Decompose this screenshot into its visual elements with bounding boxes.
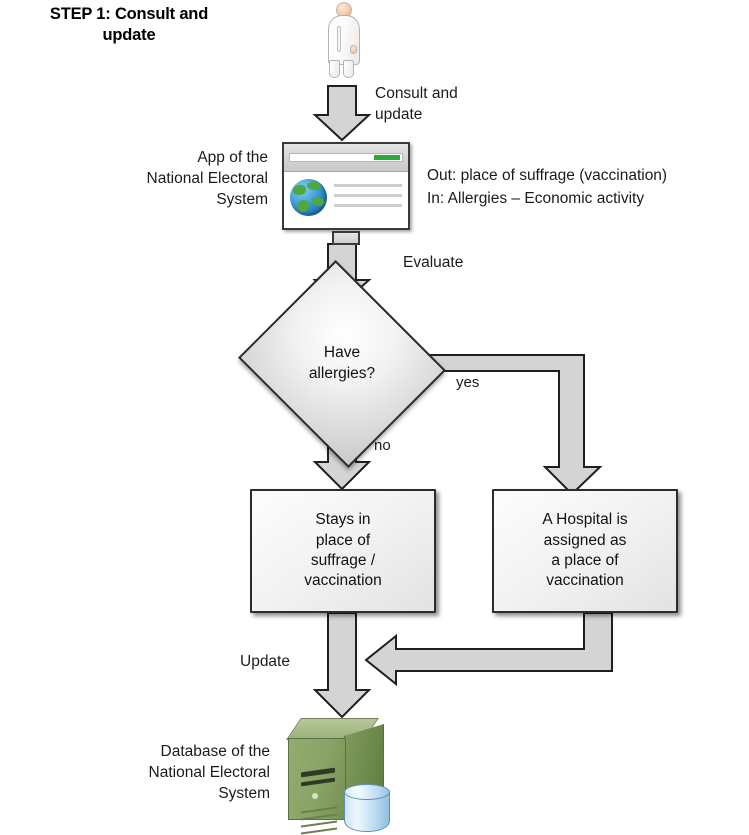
person-icon bbox=[322, 2, 366, 78]
decision-label: Have allergies? bbox=[264, 295, 420, 433]
edge-label-update: Update bbox=[240, 652, 290, 673]
process-box-hospital-assigned: A Hospital is assigned as a place of vac… bbox=[492, 489, 678, 613]
decision-node-have-allergies: Have allergies? bbox=[264, 295, 420, 433]
person-hand bbox=[350, 45, 357, 54]
app-window-base bbox=[332, 231, 360, 245]
person-leg-left bbox=[329, 60, 340, 78]
app-progress-indicator bbox=[374, 155, 400, 160]
server-vent bbox=[301, 827, 337, 834]
annotation-input-output: Out: place of suffrage (vaccination) In:… bbox=[427, 164, 747, 211]
server-front-panel bbox=[288, 738, 346, 820]
app-address-bar bbox=[289, 153, 403, 162]
app-content-lines bbox=[334, 179, 402, 216]
server-power-led bbox=[312, 793, 318, 799]
app-window-body bbox=[284, 172, 408, 223]
node-label-database: Database of the National Electoral Syste… bbox=[80, 742, 270, 805]
arrow-merge-to-database bbox=[366, 613, 612, 684]
person-leg-right bbox=[343, 60, 354, 78]
server-vent bbox=[301, 820, 337, 827]
arrow-consult-and-update bbox=[315, 86, 369, 140]
process-box-stays-in-place: Stays in place of suffrage / vaccination bbox=[250, 489, 436, 613]
app-window-icon bbox=[282, 142, 410, 230]
server-vent bbox=[301, 813, 337, 820]
database-server-icon bbox=[282, 716, 404, 832]
person-body bbox=[328, 15, 360, 65]
edge-label-yes: yes bbox=[456, 374, 479, 391]
server-drive-slot bbox=[301, 768, 335, 778]
server-vent bbox=[301, 806, 337, 813]
database-cylinder-top bbox=[344, 784, 390, 800]
arrow-yes-branch bbox=[424, 355, 600, 494]
globe-icon bbox=[290, 179, 327, 216]
edge-label-no: no bbox=[374, 437, 391, 454]
edge-label-consult-and-update: Consult and update bbox=[375, 84, 555, 126]
arrow-update bbox=[315, 613, 369, 717]
node-label-app: App of the National Electoral System bbox=[90, 148, 268, 211]
flowchart-canvas: STEP 1: Consult and update Consult and u… bbox=[0, 0, 749, 832]
app-window-header bbox=[284, 144, 408, 172]
page-title: STEP 1: Consult and update bbox=[4, 4, 254, 45]
person-arm bbox=[337, 26, 341, 52]
server-drive-slot bbox=[301, 778, 335, 787]
edge-label-evaluate: Evaluate bbox=[403, 253, 553, 274]
